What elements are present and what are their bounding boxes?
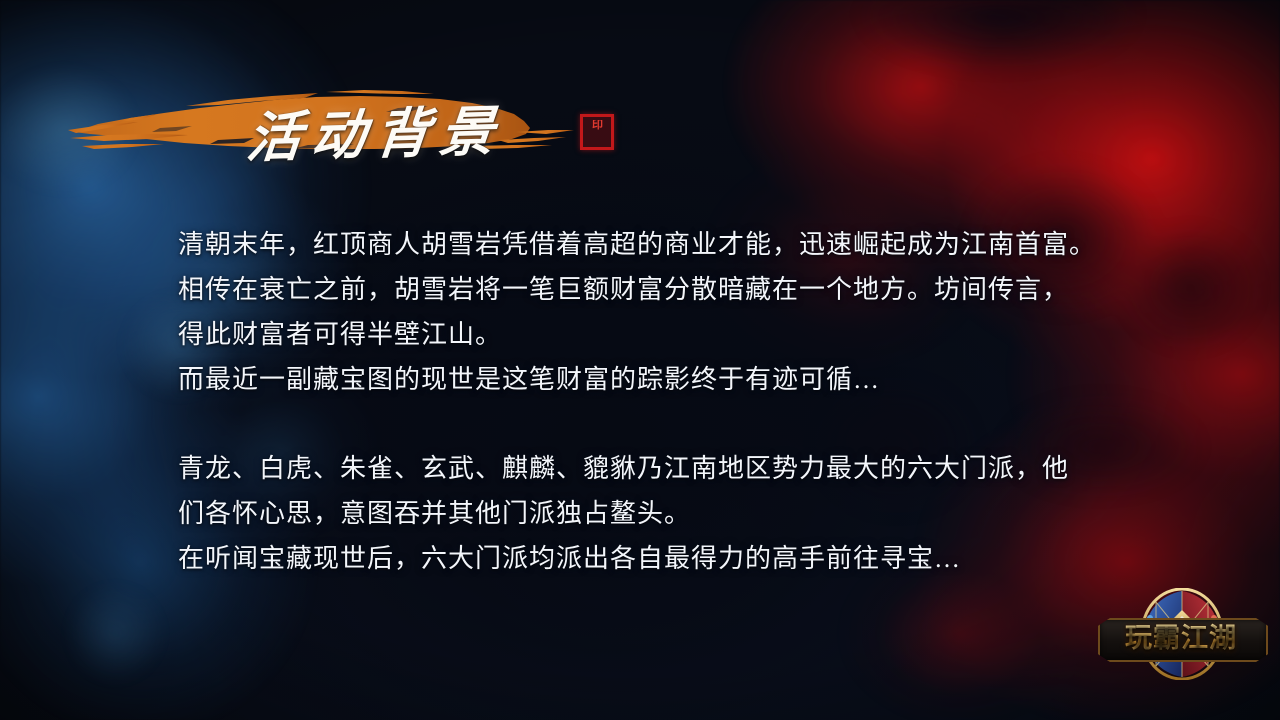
story-line: 而最近一副藏宝图的现世是这笔财富的踪影终于有迹可循… (178, 357, 1108, 402)
red-seal-stamp-icon: 印 (580, 114, 614, 150)
story-line: 青龙、白虎、朱雀、玄武、麒麟、貔貅乃江南地区势力最大的六大门派，他 (178, 446, 1108, 491)
game-logo: 玩霸江湖 (1098, 588, 1264, 684)
story-line: 得此财富者可得半壁江山。 (178, 312, 1108, 357)
story-line: 清朝末年，红顶商人胡雪岩凭借着高超的商业才能，迅速崛起成为江南首富。 (178, 222, 1108, 267)
story-paragraph: 清朝末年，红顶商人胡雪岩凭借着高超的商业才能，迅速崛起成为江南首富。 相传在衰亡… (178, 222, 1108, 402)
logo-title: 玩霸江湖 (1098, 620, 1264, 656)
page-title: 活动背景 (244, 86, 508, 172)
story-line: 们各怀心思，意图吞并其他门派独占鳌头。 (178, 491, 1108, 536)
story-line: 相传在衰亡之前，胡雪岩将一笔巨额财富分散暗藏在一个地方。坊间传言， (178, 267, 1108, 312)
story-text-block: 清朝末年，红顶商人胡雪岩凭借着高超的商业才能，迅速崛起成为江南首富。 相传在衰亡… (178, 222, 1108, 581)
page-title-block: 活动背景 印 (60, 78, 680, 174)
story-line: 在听闻宝藏现世后，六大门派均派出各自最得力的高手前往寻宝… (178, 536, 1108, 581)
story-paragraph: 青龙、白虎、朱雀、玄武、麒麟、貔貅乃江南地区势力最大的六大门派，他 们各怀心思，… (178, 446, 1108, 581)
seal-character: 印 (586, 120, 608, 144)
slide-root: 活动背景 印 清朝末年，红顶商人胡雪岩凭借着高超的商业才能，迅速崛起成为江南首富… (0, 0, 1280, 720)
